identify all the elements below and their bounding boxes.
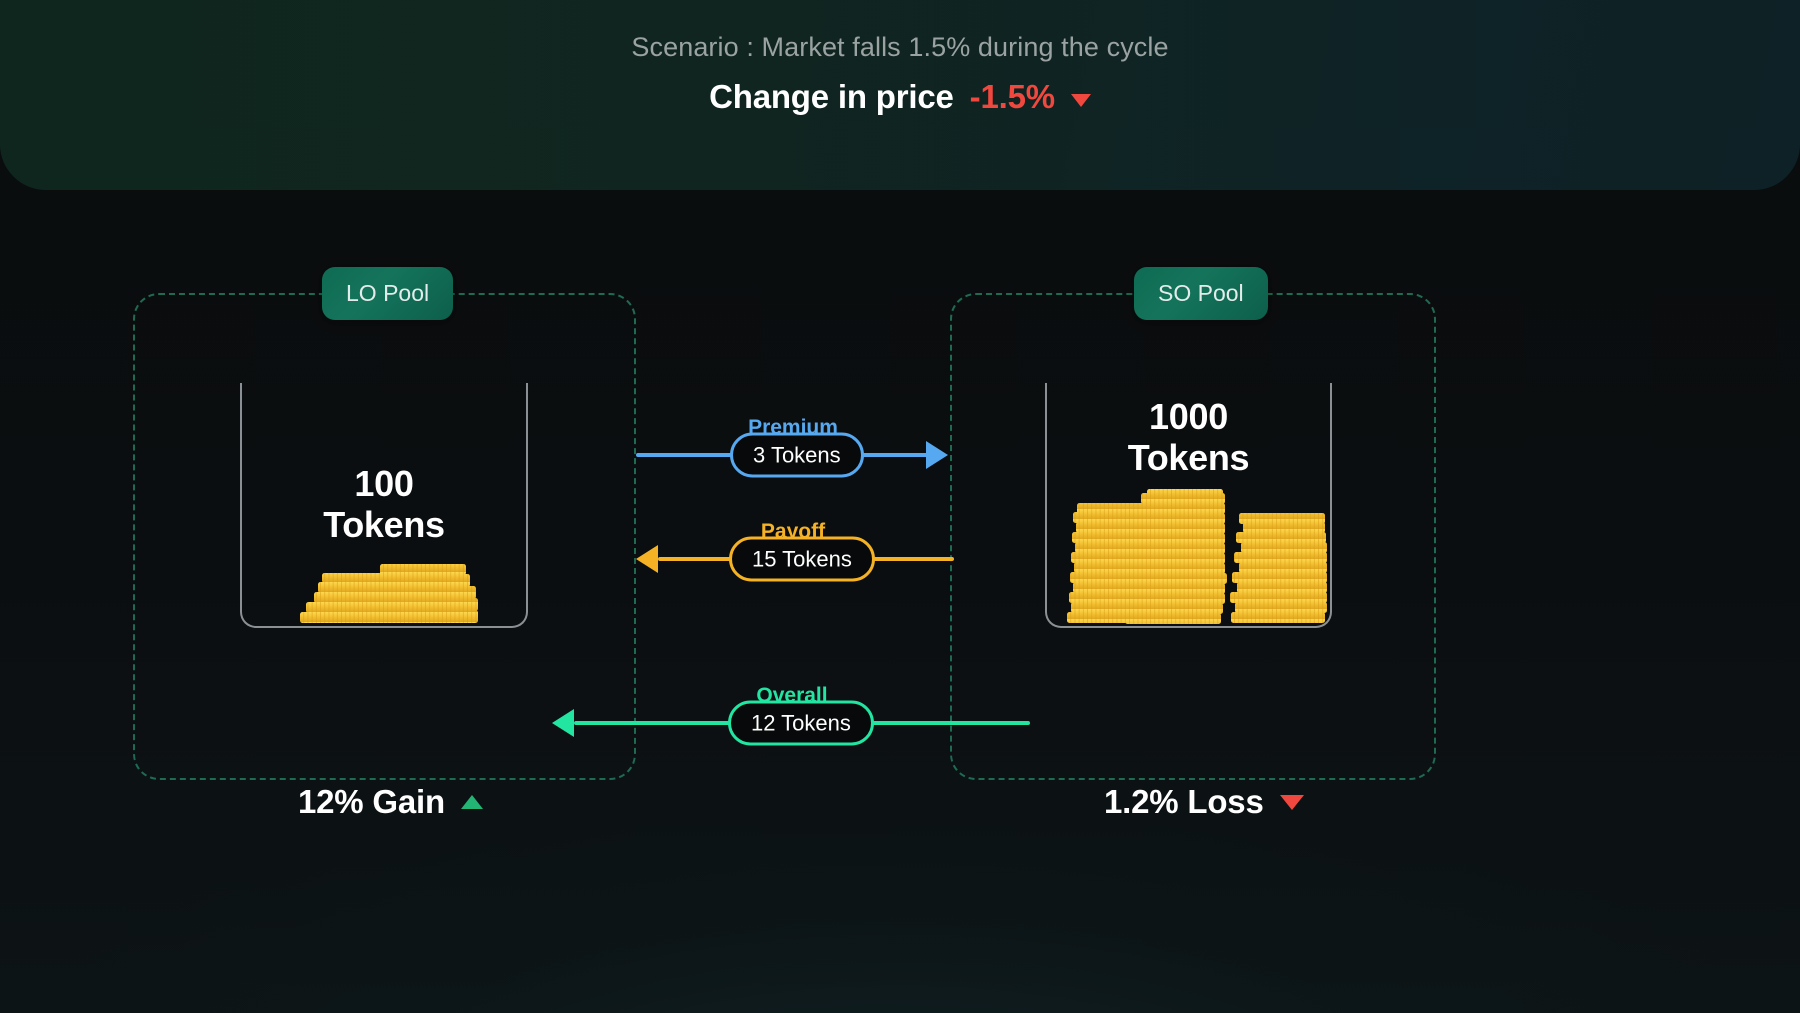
- flow-premium-pill[interactable]: 3 Tokens: [730, 433, 864, 478]
- triangle-up-icon: [461, 795, 483, 809]
- lo-pool-amount-unit: Tokens: [242, 505, 526, 546]
- so-pool-amount-value: 1000: [1047, 397, 1330, 438]
- flow-payoff: Payoff 15 Tokens: [636, 524, 1086, 594]
- triangle-down-icon: [1071, 94, 1091, 107]
- arrow-right-icon: [926, 441, 948, 469]
- lo-pool-amount: 100 Tokens: [242, 464, 526, 545]
- so-pool-amount: 1000 Tokens: [1047, 397, 1330, 478]
- so-pool-amount-unit: Tokens: [1047, 438, 1330, 479]
- gold-coin-stack-icon: [1067, 489, 1329, 624]
- arrow-left-icon: [552, 709, 574, 737]
- flow-premium-value: 3 Tokens: [753, 442, 841, 468]
- flow-overall-value: 12 Tokens: [751, 710, 851, 736]
- flow-payoff-pill[interactable]: 15 Tokens: [729, 537, 875, 582]
- so-pool-badge[interactable]: SO Pool: [1134, 267, 1268, 320]
- lo-pool-result-text: 12% Gain: [298, 783, 445, 821]
- so-pool-vessel: 1000 Tokens: [1045, 383, 1332, 628]
- so-pool-result-text: 1.2% Loss: [1104, 783, 1264, 821]
- so-pool-result: 1.2% Loss: [1104, 783, 1304, 821]
- flow-payoff-value: 15 Tokens: [752, 546, 852, 572]
- triangle-down-icon: [1280, 795, 1304, 810]
- lo-pool-vessel: 100 Tokens: [240, 383, 528, 628]
- scenario-banner: Scenario : Market falls 1.5% during the …: [0, 0, 1800, 190]
- lo-pool-amount-value: 100: [242, 464, 526, 505]
- arrow-left-icon: [636, 545, 658, 573]
- change-in-price-label: Change in price: [709, 78, 954, 116]
- flow-overall-pill[interactable]: 12 Tokens: [728, 701, 874, 746]
- change-in-price-value: -1.5%: [970, 78, 1055, 116]
- lo-pool-result: 12% Gain: [298, 783, 483, 821]
- gold-coin-stack-icon: [300, 562, 480, 624]
- scenario-description: Scenario : Market falls 1.5% during the …: [0, 32, 1800, 63]
- flow-overall: Overall 12 Tokens: [552, 688, 1030, 758]
- flow-premium: Premium 3 Tokens: [636, 420, 951, 490]
- lo-pool-badge[interactable]: LO Pool: [322, 267, 453, 320]
- change-in-price-row: Change in price -1.5%: [0, 78, 1800, 116]
- scenario-diagram-canvas: Scenario : Market falls 1.5% during the …: [0, 0, 1800, 1013]
